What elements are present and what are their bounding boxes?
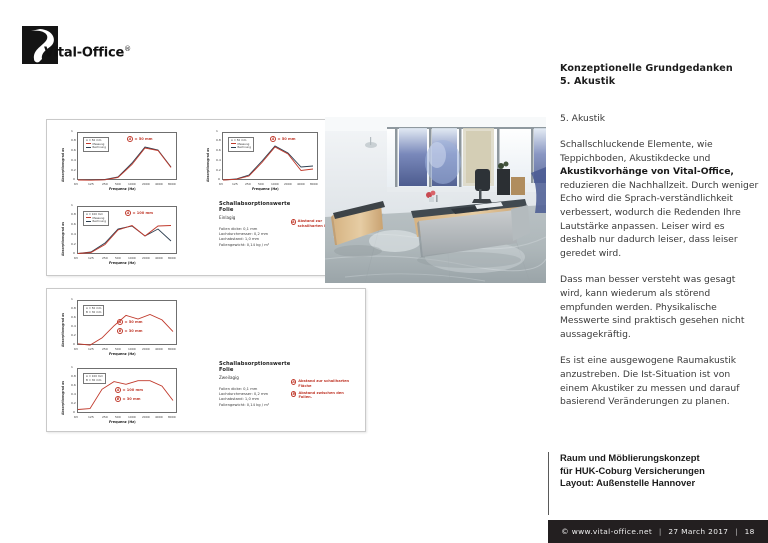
xtick: 2000 [142, 347, 150, 351]
footer-site[interactable]: www.vital-office.net [572, 527, 652, 536]
note-text: Abstand zur schallharten Fläche [298, 379, 351, 388]
spec-rows: Folien dicke: 0,1 mm Lochdurchmesser: 0,… [219, 387, 299, 409]
legend-entry: Rechnung [86, 220, 106, 224]
chart-a50-legend: A = 50 mm Messung Rechnung [83, 137, 109, 152]
chart-ab5030-legend: A = 50 mm B = 30 mm [83, 305, 104, 316]
xtick: 250 [102, 415, 108, 419]
paragraph1-bold: Akustikvorhänge von Vital-Office, [560, 166, 734, 177]
page-title-line1: Konzeptionelle Grundgedanken [560, 62, 760, 75]
page-title: Konzeptionelle Grundgedanken 5. Akustik [560, 62, 760, 88]
chart-a100-annotation: A = 100 mm [125, 210, 153, 216]
spec-title: Schallabsorptionswerte Folie [219, 361, 299, 373]
ytick: 0.4 [71, 232, 76, 236]
xtick: 1000 [128, 415, 136, 419]
annotation-text: = 100 mm [133, 211, 154, 215]
project-line1: Raum und Möblierungskonzept [560, 452, 760, 465]
spec-row: Foliengewicht: 0,14 kg / m² [219, 243, 299, 248]
xtick: 2000 [142, 182, 150, 186]
annotation-text: = 100 mm [123, 388, 144, 392]
xtick: 1000 [271, 182, 279, 186]
spec-subtitle: Zweilagig [219, 375, 299, 380]
ytick: 0.8 [71, 138, 76, 142]
chart-ab5030-annotation-a: A = 50 mm [117, 319, 143, 325]
copyright-symbol: © [561, 527, 569, 536]
ytick: 0.6 [71, 383, 76, 387]
xtick: 500 [115, 347, 121, 351]
annotation-text: = 50 mm [278, 137, 296, 141]
vital-office-logo: Vital-Office® [22, 26, 142, 66]
chart-ab5030-ylabel: Absorptionsgrad αs [61, 313, 65, 347]
ytick: 0 [73, 251, 75, 255]
note-symbol-b: B [291, 391, 296, 397]
xtick: 1000 [128, 347, 136, 351]
ytick: 1 [216, 129, 218, 133]
ytick: 1 [71, 129, 73, 133]
ytick: 0 [73, 177, 75, 181]
xtick: 1000 [128, 256, 136, 260]
ytick: 0.8 [71, 212, 76, 216]
xtick: 4000 [297, 182, 305, 186]
ytick: 0.2 [216, 168, 221, 172]
xtick: 63 [74, 182, 78, 186]
body-paragraph-1: Schallschluckende Elemente, wie Teppichb… [560, 138, 760, 260]
xtick: 250 [102, 347, 108, 351]
chart-ab10030-legend: A = 100 mm B = 30 mm [83, 373, 106, 384]
ytick: 0.4 [71, 324, 76, 328]
chart-a50r-xlabel: Frequenz (Hz) [252, 187, 279, 191]
xtick: 4000 [155, 415, 163, 419]
xtick: 8000 [168, 182, 176, 186]
chart-a50r-annotation: A = 50 mm [270, 136, 296, 142]
note-symbol-a: A [291, 379, 296, 385]
xtick: 500 [115, 256, 121, 260]
annotation-text: = 50 mm [135, 137, 153, 141]
annotation-text: = 30 mm [125, 329, 143, 333]
body-paragraph-3: Es ist eine ausgewogene Raumakustik anzu… [560, 354, 760, 408]
ytick: 0.4 [71, 392, 76, 396]
chart-ab5030-annotation-b: B = 30 mm [117, 328, 143, 334]
chart-ab-100-30: Absorptionsgrad αs A = 100 mm B = 30 mm … [55, 365, 185, 427]
spec-block-einlagig: Schallabsorptionswerte Folie Einlagig Fo… [219, 201, 299, 248]
ytick: 1 [71, 297, 73, 301]
section-subheading: 5. Akustik [560, 112, 760, 125]
chart-ab10030-annotation-b: B = 30 mm [115, 396, 141, 402]
chart-a50-ylabel: Absorptionsgrad αs [61, 148, 65, 182]
annotation-symbol-b: B [117, 328, 123, 334]
ytick: 0.6 [71, 222, 76, 226]
note-symbol-a: A [291, 219, 296, 225]
spec-rows: Folien dicke: 0,1 mm Lochdurchmesser: 0,… [219, 227, 299, 249]
chart-a50r-ylabel: Absorptionsgrad αs [206, 148, 210, 182]
xtick: 250 [102, 256, 108, 260]
ytick: 0.4 [71, 158, 76, 162]
legend-entry: Rechnung [86, 146, 106, 150]
annotation-symbol-a: A [127, 136, 133, 142]
annotation-text: = 50 mm [125, 320, 143, 324]
footer-page-number: 18 [745, 527, 755, 536]
annotation-symbol-a: A [270, 136, 276, 142]
chart-panel-einlagig: Absorptionsgrad αs A = 50 mm Messung Rec… [46, 119, 332, 276]
paragraph1-part1: Schallschluckende Elemente, wie Teppichb… [560, 139, 713, 164]
ytick: 0 [73, 410, 75, 414]
footer-separator-2: | [731, 527, 742, 536]
legend-entry: Rechnung [231, 146, 251, 150]
slide-page: Vital-Office® Absorptionsgrad αs A = 50 … [0, 0, 768, 543]
ytick: 0.8 [71, 374, 76, 378]
project-line3: Layout: Außenstelle Hannover [560, 477, 760, 490]
right-text-column: Konzeptionelle Grundgedanken 5. Akustik … [560, 62, 760, 409]
xtick: 8000 [168, 256, 176, 260]
annotation-symbol-a: A [125, 210, 131, 216]
body-paragraph-2: Dass man besser versteht was gesagt wird… [560, 273, 760, 341]
chart-panel-zweilagig: Absorptionsgrad αs A = 50 mm B = 30 mm A… [46, 288, 366, 432]
xtick: 125 [88, 256, 94, 260]
annotation-text: = 30 mm [123, 397, 141, 401]
ytick: 1 [71, 203, 73, 207]
xtick: 63 [74, 415, 78, 419]
xtick: 63 [74, 256, 78, 260]
chart-ab-50-30: Absorptionsgrad αs A = 50 mm B = 30 mm A… [55, 297, 185, 359]
footer-bar: © www.vital-office.net | 27 March 2017 |… [548, 520, 768, 543]
ytick: 1 [71, 365, 73, 369]
note-text: Abstand zwischen den Folien. [298, 391, 351, 400]
xtick: 250 [245, 182, 251, 186]
ytick: 0.2 [71, 168, 76, 172]
spec-row: Foliengewicht: 0,14 kg / m² [219, 403, 299, 408]
chart-ab10030-xlabel: Frequenz (Hz) [109, 420, 136, 424]
chart-a50-xlabel: Frequenz (Hz) [109, 187, 136, 191]
ytick: 0.6 [71, 148, 76, 152]
annotation-symbol-a: A [117, 319, 123, 325]
page-title-line2: 5. Akustik [560, 75, 760, 88]
xtick: 125 [232, 182, 238, 186]
chart-a50-right: Absorptionsgrad αs A = 50 mm Messung Rec… [202, 128, 328, 194]
xtick: 2000 [284, 182, 292, 186]
ytick: 0.8 [71, 306, 76, 310]
ytick: 0 [218, 177, 220, 181]
xtick: 63 [74, 347, 78, 351]
chart-ab10030-ylabel: Absorptionsgrad αs [61, 381, 65, 415]
legend-entry: B = 30 mm [86, 311, 101, 315]
ytick: 0.6 [216, 148, 221, 152]
xtick: 2000 [142, 415, 150, 419]
xtick: 125 [88, 347, 94, 351]
chart-a100: Absorptionsgrad αs A = 100 mm Messung Re… [55, 202, 185, 268]
footer-date: 27 March 2017 [668, 527, 728, 536]
xtick: 125 [88, 415, 94, 419]
xtick: 8000 [310, 182, 318, 186]
xtick: 500 [258, 182, 264, 186]
xtick: 8000 [168, 347, 176, 351]
ytick: 0.4 [216, 158, 221, 162]
xtick: 4000 [155, 256, 163, 260]
xtick: 4000 [155, 347, 163, 351]
xtick: 125 [88, 182, 94, 186]
project-divider-rule [548, 452, 549, 515]
annotation-symbol-b: B [115, 396, 121, 402]
note-row: A Abstand zur schallharten Fläche [291, 379, 351, 388]
xtick: 1000 [128, 182, 136, 186]
xtick: 2000 [142, 256, 150, 260]
chart-ab5030-xlabel: Frequenz (Hz) [109, 352, 136, 356]
chart-a50: Absorptionsgrad αs A = 50 mm Messung Rec… [55, 128, 185, 194]
ytick: 0.2 [71, 401, 76, 405]
spec-block-zweilagig: Schallabsorptionswerte Folie Zweilagig F… [219, 361, 299, 408]
ytick: 0.2 [71, 333, 76, 337]
footer-text: © www.vital-office.net | 27 March 2017 |… [561, 527, 754, 536]
xtick: 250 [102, 182, 108, 186]
spec-subtitle: Einlagig [219, 215, 299, 220]
chart-a100-legend: A = 100 mm Messung Rechnung [83, 211, 109, 226]
xtick: 500 [115, 415, 121, 419]
chart-ab10030-annotation-a: A = 100 mm [115, 387, 143, 393]
chart-a100-xlabel: Frequenz (Hz) [109, 261, 136, 265]
logo-wordmark: Vital-Office® [44, 45, 131, 60]
project-info-block: Raum und Möblierungskonzept für HUK-Cobu… [560, 452, 760, 490]
chart-a100-ylabel: Absorptionsgrad αs [61, 222, 65, 256]
office-interior-photo [325, 117, 546, 283]
chart-a50-annotation: A = 50 mm [127, 136, 153, 142]
note-block-zweilagig: A Abstand zur schallharten Fläche B Abst… [291, 379, 351, 402]
annotation-symbol-a: A [115, 387, 121, 393]
paragraph1-part2: reduzieren die Nachhallzeit. Durch wenig… [560, 180, 758, 259]
footer-separator-1: | [655, 527, 666, 536]
spec-title: Schallabsorptionswerte Folie [219, 201, 299, 213]
project-line2: für HUK-Coburg Versicherungen [560, 465, 760, 478]
ytick: 0.6 [71, 315, 76, 319]
ytick: 0 [73, 342, 75, 346]
ytick: 0.8 [216, 138, 221, 142]
xtick: 4000 [155, 182, 163, 186]
note-row: B Abstand zwischen den Folien. [291, 391, 351, 400]
xtick: 63 [219, 182, 223, 186]
ytick: 0.2 [71, 242, 76, 246]
xtick: 8000 [168, 415, 176, 419]
xtick: 500 [115, 182, 121, 186]
chart-a50r-legend: A = 50 mm Messung Rechnung [228, 137, 254, 152]
legend-entry: B = 30 mm [86, 379, 103, 383]
